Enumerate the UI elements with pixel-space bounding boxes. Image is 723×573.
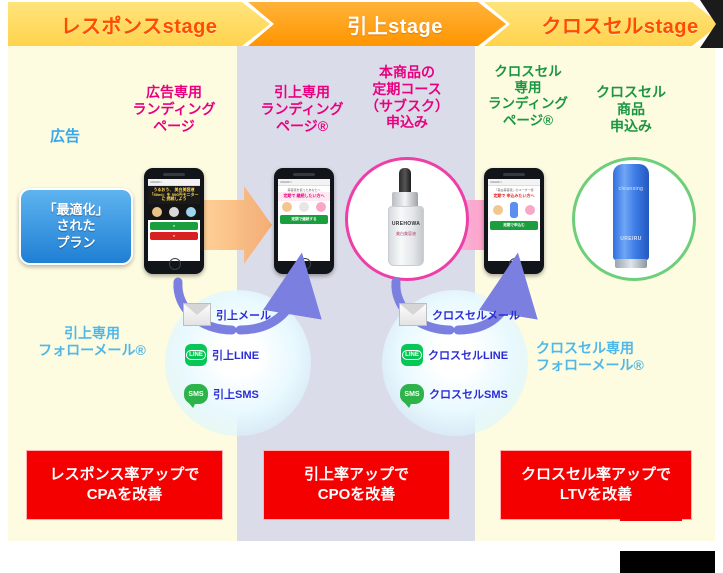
cleansing-cap-icon [615, 259, 647, 268]
cleansing-sub-label: cleansing [613, 186, 649, 192]
result-box-ltv: クロスセル率アップで LTVを改善 [500, 450, 692, 520]
serum-dropper-cap-icon [399, 168, 411, 194]
channel-uplift-sms-label: 引上SMS [213, 386, 259, 402]
phone-home-button-icon [299, 258, 311, 270]
channel-crosssell-mail[interactable]: クロスセルメール [399, 303, 520, 326]
phone-url-bar: UREIRU [148, 179, 200, 186]
optimized-plan-box[interactable]: 「最適化」 された プラン [19, 188, 133, 265]
channel-uplift-mail[interactable]: 引上メール [183, 303, 271, 326]
phone-headline-crosssell: 定期で 申込みたい方へ [488, 192, 540, 201]
thumb-icon [493, 205, 503, 215]
channel-uplift-line[interactable]: LINE 引上LINE [185, 344, 259, 366]
stage-banner-response[interactable]: レスポンスstage [8, 2, 270, 46]
phone-speaker-icon [163, 173, 185, 176]
product-cleansing-tube: cleansing UREIRU [613, 164, 649, 268]
label-advertisement: 広告 [22, 128, 108, 146]
stage-banner-crosssell[interactable]: クロスセルstage [484, 2, 720, 46]
sms-icon-badge: SMS [404, 391, 419, 398]
line-icon: LINE [401, 344, 423, 366]
sms-icon: SMS [400, 384, 424, 404]
phone-thumb-row [488, 201, 540, 219]
phone-screen-ad-lp: UREIRU うるおう、 美白美容液「50ml」を 500円モニターに 挑戦しよ… [148, 179, 200, 261]
label-uplift-landing-page: 引上専用 ランディング ページ® [249, 84, 355, 134]
line-icon: LINE [185, 344, 207, 366]
phone-screen-uplift-lp: UREIRU 美容液を使ったあなたへ 定期で 継続したい方へ 定期で継続する [278, 179, 330, 261]
label-crosssell-landing-page: クロスセル 専用 ランディング ページ® [476, 64, 580, 129]
serum-sub-label: 美白美容液 [389, 231, 423, 237]
phone-thumb-row [278, 201, 330, 213]
phone-speaker-icon [293, 173, 315, 176]
phone-cta-button-uplift[interactable]: 定期で継続する [280, 215, 328, 224]
label-crosssell-follow-mail: クロスセル専用 フォローメール® [536, 340, 702, 374]
phone-headline-uplift: 定期で 継続したい方へ [278, 192, 330, 201]
sms-icon-badge: SMS [188, 391, 203, 398]
serum-body: UREHOWA 美白美容液 [388, 206, 424, 266]
phone-home-button-icon [509, 258, 521, 270]
channel-uplift-line-label: 引上LINE [212, 347, 259, 363]
sms-icon: SMS [184, 384, 208, 404]
phone-home-button-icon [169, 258, 181, 270]
footer-black-bar [620, 551, 715, 573]
label-crosssell-order: クロスセル 商品 申込み [578, 84, 684, 134]
stage-banner-response-label: レスポンスstage [8, 2, 296, 46]
result-box-cpa: レスポンス率アップで CPAを改善 [26, 450, 223, 520]
label-ad-landing-page: 広告専用 ランディング ページ [122, 84, 226, 134]
thumb-icon [152, 207, 162, 217]
label-uplift-follow-mail: 引上専用 フォローメール® [22, 325, 162, 359]
phone-screen-crosssell-lp: UREIRU 「美白美容液」のユーザー様 定期で 申込みたい方へ 定期で申込む [488, 179, 540, 261]
cleansing-brand-label: UREIRU [613, 236, 649, 242]
channel-crosssell-sms[interactable]: SMS クロスセルSMS [400, 384, 508, 404]
channel-crosssell-line[interactable]: LINE クロスセルLINE [401, 344, 508, 366]
footer-red-strip [620, 518, 682, 521]
phone-kicker-crosssell: 「美白美容液」のユーザー様 [488, 186, 540, 192]
channel-uplift-mail-label: 引上メール [216, 307, 271, 323]
label-subscription-order: 本商品の 定期コース （サブスク） 申込み [352, 64, 462, 131]
serum-brand-label: UREHOWA [389, 221, 423, 227]
phone-ad-landing-page[interactable]: UREIRU うるおう、 美白美容液「50ml」を 500円モニターに 挑戦しよ… [144, 168, 204, 274]
mail-icon [399, 303, 427, 326]
thumb-icon [316, 202, 326, 212]
channel-crosssell-sms-label: クロスセルSMS [429, 386, 508, 402]
stage-banner-uplift[interactable]: 引上stage [248, 2, 506, 46]
phone-url-bar: UREIRU [488, 179, 540, 186]
phone-uplift-landing-page[interactable]: UREIRU 美容液を使ったあなたへ 定期で 継続したい方へ 定期で継続する [274, 168, 334, 274]
line-icon-badge: LINE [186, 350, 206, 360]
phone-crosssell-landing-page[interactable]: UREIRU 「美白美容液」のユーザー様 定期で 申込みたい方へ 定期で申込む [484, 168, 544, 274]
channel-crosssell-mail-label: クロスセルメール [432, 307, 520, 323]
channel-uplift-sms[interactable]: SMS 引上SMS [184, 384, 259, 404]
thumb-icon [525, 205, 535, 215]
phone-thumb-row [148, 206, 200, 218]
mail-icon [183, 303, 211, 326]
thumb-tube-icon [510, 202, 518, 218]
phone-speaker-icon [503, 173, 525, 176]
phone-cta-button-ad[interactable]: ● [150, 222, 198, 230]
line-icon-badge: LINE [402, 350, 422, 360]
cleansing-tube-body: cleansing UREIRU [613, 164, 649, 260]
thumb-icon [169, 207, 179, 217]
phone-product-area-ad [148, 204, 200, 220]
result-box-cpo: 引上率アップで CPOを改善 [263, 450, 450, 520]
thumb-icon [299, 202, 309, 212]
phone-subcta-ad[interactable]: ● [150, 232, 198, 240]
stage-banner-crosssell-label: クロスセルstage [484, 2, 723, 46]
thumb-icon [282, 202, 292, 212]
product-serum-bottle: UREHOWA 美白美容液 [384, 168, 426, 266]
channel-crosssell-line-label: クロスセルLINE [428, 347, 508, 363]
thumb-icon [186, 207, 196, 217]
phone-cta-button-crosssell[interactable]: 定期で申込む [490, 221, 538, 230]
diagram-root: レスポンスstage 引上stage クロスセルstage 広告 広告専用 ラン… [0, 0, 723, 573]
phone-headline-ad: うるおう、 美白美容液「50ml」を 500円モニターに 挑戦しよう [148, 186, 200, 204]
phone-url-bar: UREIRU [278, 179, 330, 186]
